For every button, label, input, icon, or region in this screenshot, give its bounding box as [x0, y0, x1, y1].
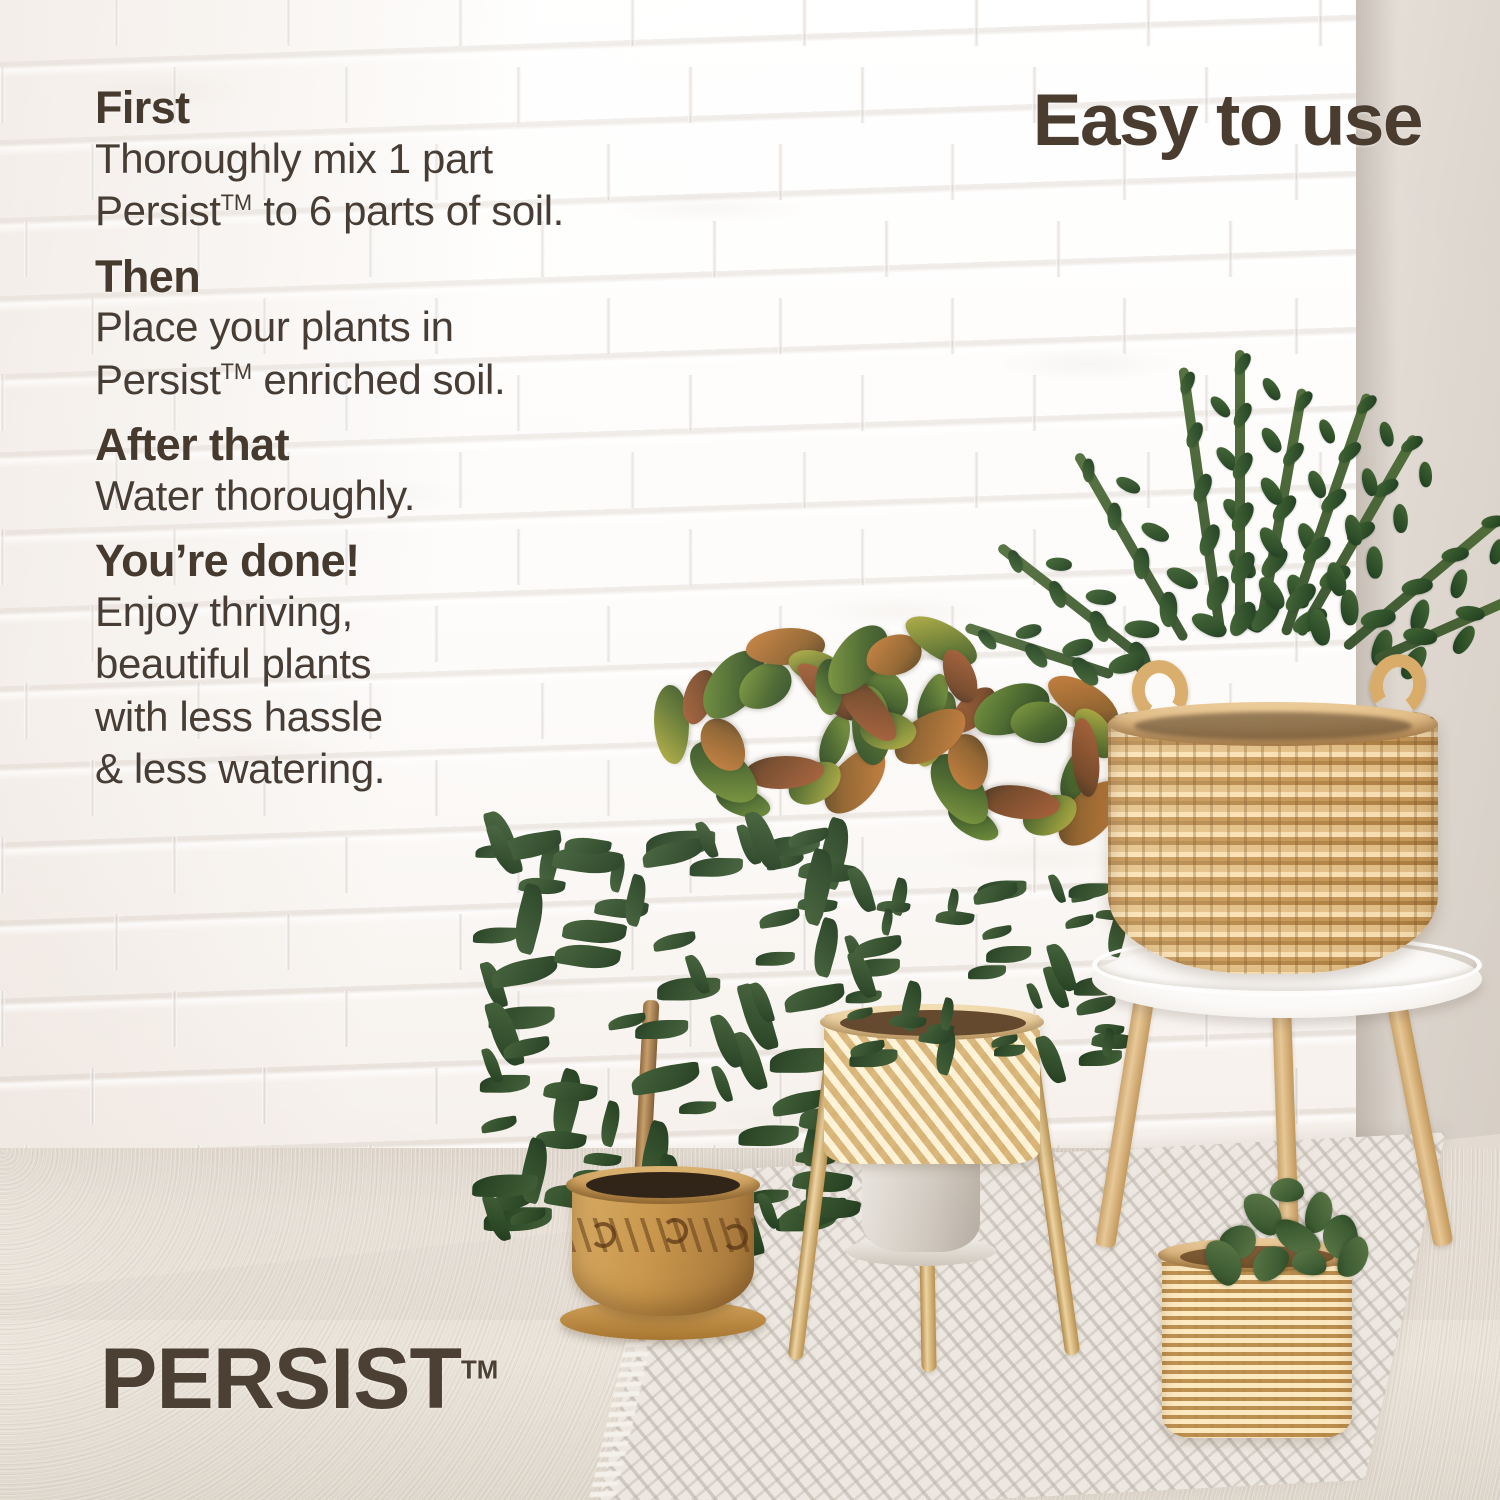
instruction-steps: First Thoroughly mix 1 part PersistTM to… [95, 84, 695, 811]
text-overlay: Easy to use First Thoroughly mix 1 part … [0, 0, 1500, 1500]
step-first: First Thoroughly mix 1 part PersistTM to… [95, 84, 695, 238]
step-body-post: to 6 parts of soil. [252, 187, 564, 234]
step-body: Thoroughly mix 1 part PersistTM to 6 par… [95, 133, 695, 238]
trademark-symbol: TM [221, 190, 253, 215]
step-body: Water thoroughly. [95, 470, 695, 523]
step-title: Then [95, 253, 695, 302]
step-title: You’re done! [95, 537, 695, 586]
step-title: After that [95, 421, 695, 470]
step-then: Then Place your plants in PersistTM enri… [95, 253, 695, 407]
step-body-pre: Enjoy thriving, beautiful plants with le… [95, 588, 385, 793]
trademark-symbol: TM [221, 359, 253, 384]
step-body: Place your plants in PersistTM enriched … [95, 301, 695, 406]
step-title: First [95, 84, 695, 133]
step-body: Enjoy thriving, beautiful plants with le… [95, 586, 695, 796]
brand-logo: PERSISTTM [100, 1336, 498, 1422]
step-body-pre: Water thoroughly. [95, 472, 415, 519]
step-after-that: After that Water thoroughly. [95, 421, 695, 522]
brand-name: PERSIST [100, 1331, 461, 1427]
headline: Easy to use [1033, 84, 1422, 157]
trademark-symbol: TM [461, 1356, 498, 1384]
step-youre-done: You’re done! Enjoy thriving, beautiful p… [95, 537, 695, 796]
step-body-post: enriched soil. [252, 356, 505, 403]
product-infographic: Easy to use First Thoroughly mix 1 part … [0, 0, 1500, 1500]
